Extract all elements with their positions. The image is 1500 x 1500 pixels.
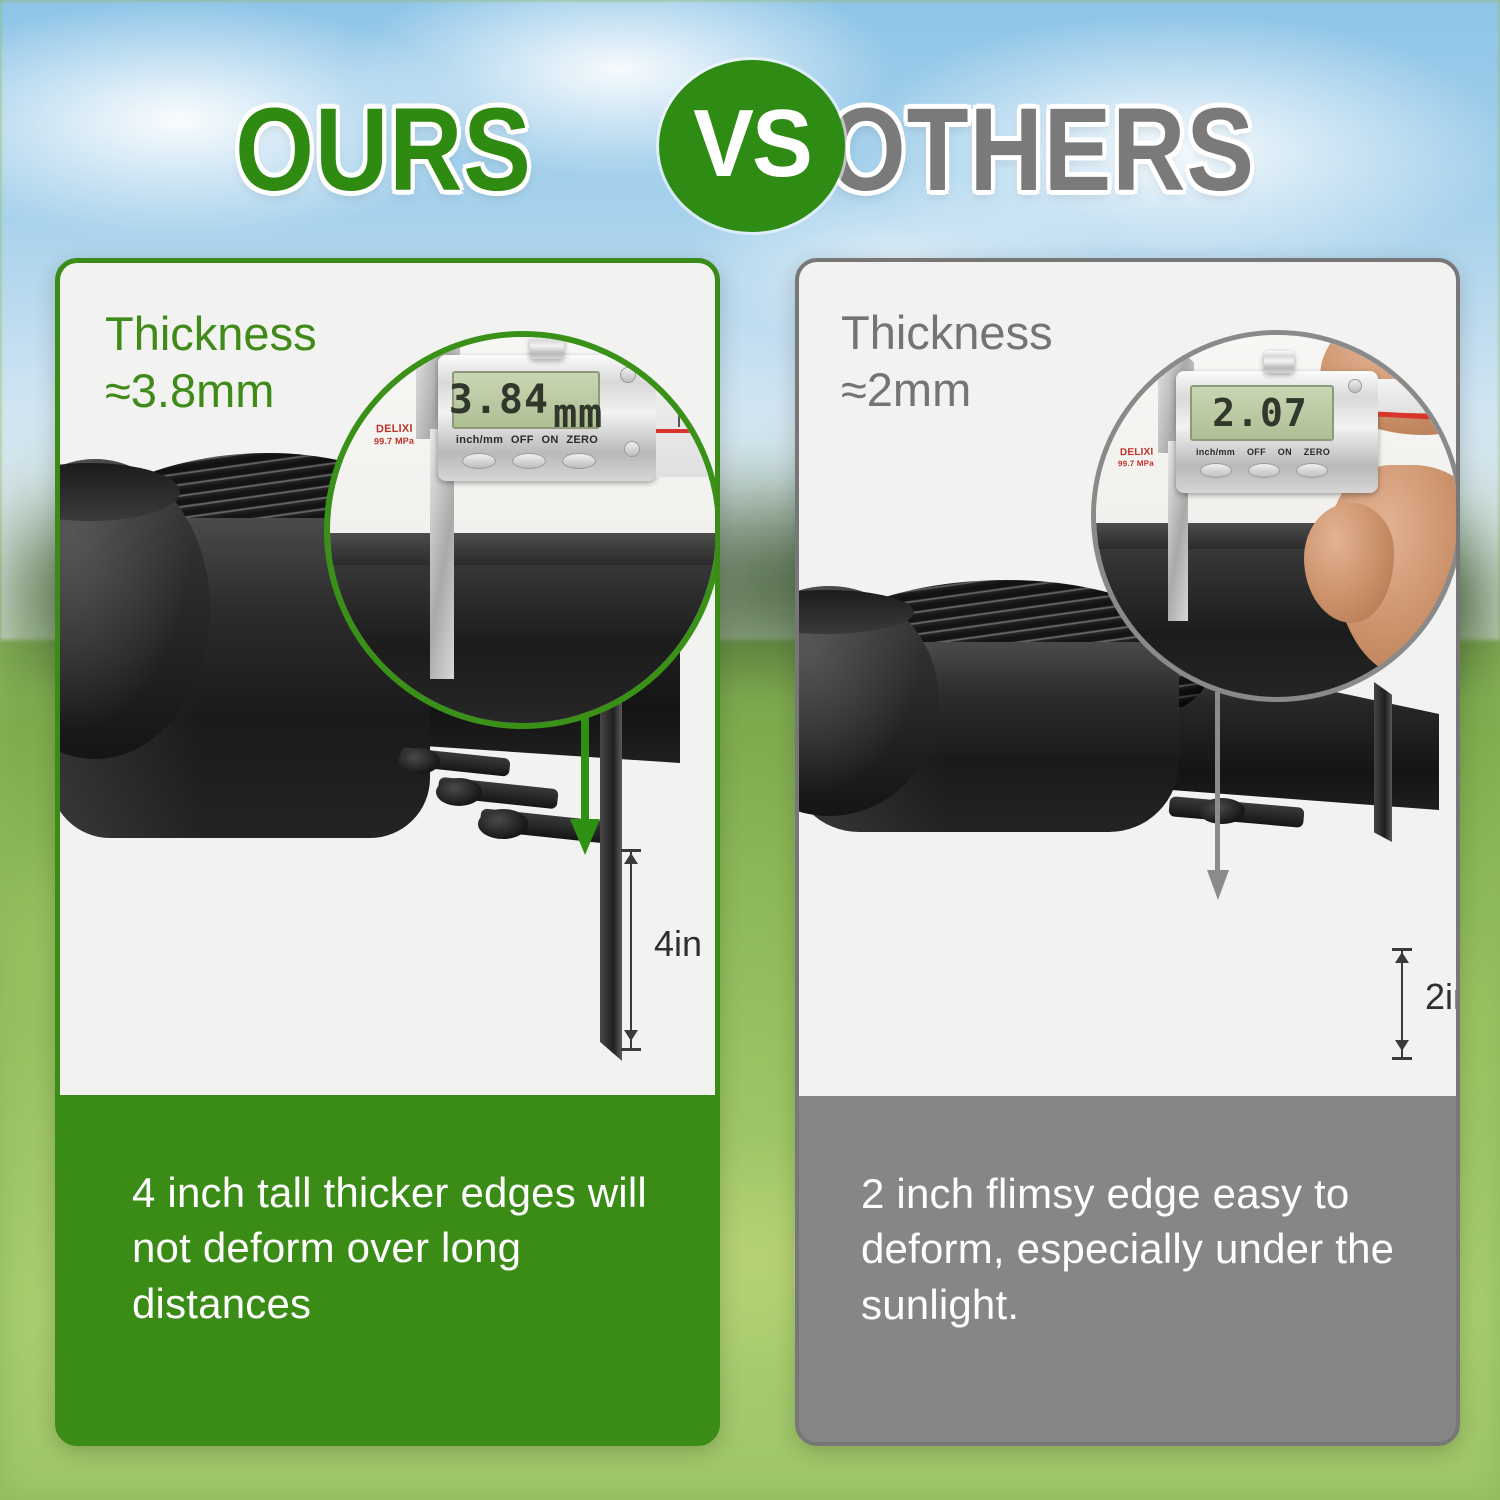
comparison-header: OURS OTHERS VS: [0, 62, 1500, 237]
header-ours-label: OURS: [235, 91, 532, 209]
thickness-title-ours: Thickness: [105, 305, 317, 362]
edging-stake-cap-ours-3: [478, 809, 528, 839]
caliper-zoom-bubble-ours: DELIXI 99.7 MPa 3.84 mm inch/mm OFF ON Z…: [324, 331, 715, 729]
panel-others: Thickness ≈2mm 2in: [795, 258, 1460, 1446]
caliper-screw-bottom-ours: [624, 441, 640, 457]
caliper-button-inchmm-ours: [462, 453, 496, 469]
caliper-thumbwheel-ours: [530, 335, 564, 359]
arrow-shaft-others: [1215, 692, 1220, 875]
dimension-arrowhead-top-ours: [624, 853, 638, 864]
caliper-btn-label-off-others: OFF: [1247, 447, 1266, 457]
caliper-btn-label-inchmm-ours: inch/mm: [456, 434, 503, 446]
thickness-label-ours: Thickness ≈3.8mm: [105, 305, 317, 420]
caliper-button-zero-others: [1296, 463, 1328, 478]
dimension-4in-ours: 4in: [608, 845, 715, 1057]
arrow-head-others: [1207, 870, 1229, 900]
caliper-thumbwheel-others: [1264, 351, 1294, 373]
caliper-btn-label-on-ours: ON: [542, 434, 559, 446]
dimension-arrowhead-bottom-others: [1395, 1040, 1409, 1051]
caliper-button-power-others: [1248, 463, 1280, 478]
caliper-scale-ours: [656, 347, 715, 477]
caliper-btn-label-inchmm-others: inch/mm: [1196, 447, 1235, 457]
dimension-cap-bottom-others: [1392, 1057, 1412, 1060]
caliper-button-inchmm-others: [1200, 463, 1232, 478]
header-others-label: OTHERS: [826, 91, 1254, 209]
vs-badge: VS: [659, 60, 845, 232]
caliper-btn-label-zero-ours: ZERO: [566, 434, 598, 446]
thickness-value-ours: ≈3.8mm: [105, 362, 317, 419]
caliper-scale-number-ours: 70: [670, 395, 684, 410]
caliper-display-others: 2.07: [1190, 385, 1334, 441]
edging-cut-end-others: [1374, 682, 1392, 842]
caliper-scale-others: [1378, 379, 1456, 413]
panel-others-image-area: Thickness ≈2mm 2in: [799, 262, 1456, 1096]
caliper-btn-label-zero-others: ZERO: [1304, 447, 1330, 457]
caliper-brand-sub-others: 99.7 MPa: [1118, 459, 1154, 469]
caliper-screw-top-others: [1348, 379, 1362, 393]
caliper-scale-tick-ours: [678, 413, 680, 427]
caliper-button-zero-ours: [562, 453, 596, 469]
caliper-btn-label-off-ours: OFF: [511, 434, 534, 446]
dimension-cap-top-ours: [621, 849, 641, 852]
dimension-cap-top-others: [1392, 948, 1412, 951]
caliper-sample-strip-ours: [324, 555, 715, 729]
caliper-screw-top-ours: [620, 367, 636, 383]
dimension-arrowhead-bottom-ours: [624, 1030, 638, 1041]
panel-ours-image-area: Thickness ≈3.8mm: [60, 263, 715, 1095]
edging-stake-cap-ours-2: [436, 778, 482, 806]
dimension-cap-bottom-ours: [621, 1048, 641, 1051]
dimension-label-ours: 4in: [654, 923, 702, 965]
vs-badge-label: VS: [693, 96, 811, 192]
caliper-brand-others: DELIXI: [1120, 447, 1154, 459]
panel-ours-caption: 4 inch tall thicker edges will not defor…: [60, 1095, 715, 1331]
caliper-button-power-ours: [512, 453, 546, 469]
caliper-button-labels-ours: inch/mm OFF ON ZERO: [452, 433, 602, 447]
thickness-label-others: Thickness ≈2mm: [841, 304, 1053, 419]
caliper-zoom-bubble-others: DELIXI 99.7 MPa 2.07 inch/mm OFF ON ZERO: [1091, 330, 1456, 702]
caliper-display-ours: 3.84 mm: [452, 371, 600, 429]
caliper-sample-edge-ours: [324, 533, 715, 565]
caliper-button-labels-others: inch/mm OFF ON ZERO: [1190, 445, 1336, 458]
thickness-value-others: ≈2mm: [841, 361, 1053, 418]
caliper-reading-ours: 3.84: [449, 377, 549, 423]
caliper-reading-others: 2.07: [1212, 391, 1308, 435]
thickness-title-others: Thickness: [841, 304, 1053, 361]
caliper-btn-label-on-others: ON: [1278, 447, 1292, 457]
caliper-photo-ours: DELIXI 99.7 MPa 3.84 mm inch/mm OFF ON Z…: [330, 337, 715, 723]
edging-stake-cap-ours-1: [398, 748, 440, 774]
dimension-2in-others: 2in: [1379, 944, 1456, 1074]
caliper-unit-ours: mm: [553, 391, 603, 437]
caliper-brand-ours: DELIXI: [376, 423, 413, 436]
caliper-brand-sub-ours: 99.7 MPa: [374, 436, 414, 447]
dimension-label-others: 2in: [1425, 976, 1456, 1018]
panel-others-caption: 2 inch flimsy edge easy to deform, espec…: [799, 1096, 1456, 1332]
dimension-arrowhead-top-others: [1395, 952, 1409, 963]
arrow-down-icon-others: [1207, 692, 1229, 904]
panel-ours: Thickness ≈3.8mm: [55, 258, 720, 1446]
caliper-photo-others: DELIXI 99.7 MPa 2.07 inch/mm OFF ON ZERO: [1096, 335, 1456, 697]
arrow-head-ours: [570, 819, 600, 855]
caliper-scale-redline-ours: [656, 429, 715, 433]
dimension-line-ours: [630, 851, 632, 1051]
